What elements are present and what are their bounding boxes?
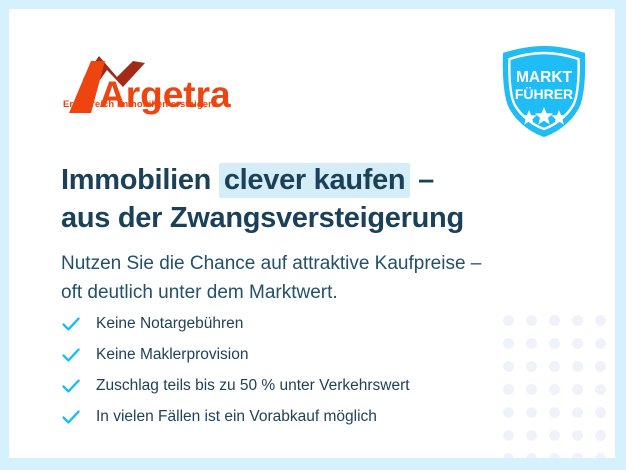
badge-line1: MARKT xyxy=(516,69,572,86)
headline-line-2: aus der Zwangsversteigerung xyxy=(61,200,531,237)
decorative-dot xyxy=(526,453,537,458)
banner-card: Argetra Erfolgreich Immobilien ersteiger… xyxy=(9,9,615,458)
decorative-dot xyxy=(572,361,583,372)
decorative-dot xyxy=(549,315,560,326)
argetra-logo: Argetra Erfolgreich Immobilien ersteiger… xyxy=(61,51,241,119)
decorative-dot xyxy=(595,407,606,418)
subheadline: Nutzen Sie die Chance auf attraktive Kau… xyxy=(61,250,541,307)
decorative-dot xyxy=(572,384,583,395)
decorative-dot xyxy=(595,384,606,395)
list-item: Keine Notargebühren xyxy=(61,309,531,339)
list-item: Zuschlag teils bis zu 50 % unter Verkehr… xyxy=(61,371,531,401)
decorative-dot xyxy=(549,361,560,372)
headline-highlight: clever kaufen xyxy=(219,163,411,198)
check-icon xyxy=(61,376,81,396)
decorative-dot xyxy=(549,453,560,458)
list-item: In vielen Fällen ist ein Vorabkauf mögli… xyxy=(61,402,531,432)
decorative-dot xyxy=(595,453,606,458)
decorative-dot xyxy=(503,453,514,458)
promo-banner: Argetra Erfolgreich Immobilien ersteiger… xyxy=(0,0,626,470)
check-icon xyxy=(61,314,81,334)
list-item-label: Keine Notargebühren xyxy=(96,315,243,334)
decorative-dot xyxy=(549,338,560,349)
decorative-dot xyxy=(549,430,560,441)
check-icon xyxy=(61,345,81,365)
market-leader-badge: MARKT FÜHRER xyxy=(498,44,590,140)
badge-line2: FÜHRER xyxy=(515,86,573,102)
headline-prefix: Immobilien xyxy=(61,164,219,196)
list-item-label: Keine Maklerprovision xyxy=(96,346,249,365)
decorative-dot xyxy=(595,361,606,372)
list-item-label: In vielen Fällen ist ein Vorabkauf mögli… xyxy=(96,408,377,427)
subheadline-line-1: Nutzen Sie die Chance auf attraktive Kau… xyxy=(61,250,541,279)
decorative-dot xyxy=(572,430,583,441)
decorative-dot xyxy=(549,407,560,418)
decorative-dot xyxy=(549,384,560,395)
decorative-dot xyxy=(595,315,606,326)
decorative-dot xyxy=(595,430,606,441)
logo-tagline: Erfolgreich Immobilien ersteigern xyxy=(63,99,218,110)
headline: Immobilien clever kaufen – aus der Zwang… xyxy=(61,162,531,236)
benefits-list: Keine NotargebührenKeine Maklerprovision… xyxy=(61,309,531,433)
subheadline-line-2: oft deutlich unter dem Marktwert. xyxy=(61,279,541,308)
decorative-dot xyxy=(572,315,583,326)
decorative-dot xyxy=(595,338,606,349)
decorative-dot xyxy=(572,407,583,418)
list-item-label: Zuschlag teils bis zu 50 % unter Verkehr… xyxy=(96,377,410,396)
decorative-dot xyxy=(572,338,583,349)
decorative-dot xyxy=(572,453,583,458)
check-icon xyxy=(61,407,81,427)
headline-suffix: – xyxy=(410,164,434,196)
headline-line-1: Immobilien clever kaufen – xyxy=(61,162,531,199)
list-item: Keine Maklerprovision xyxy=(61,340,531,370)
